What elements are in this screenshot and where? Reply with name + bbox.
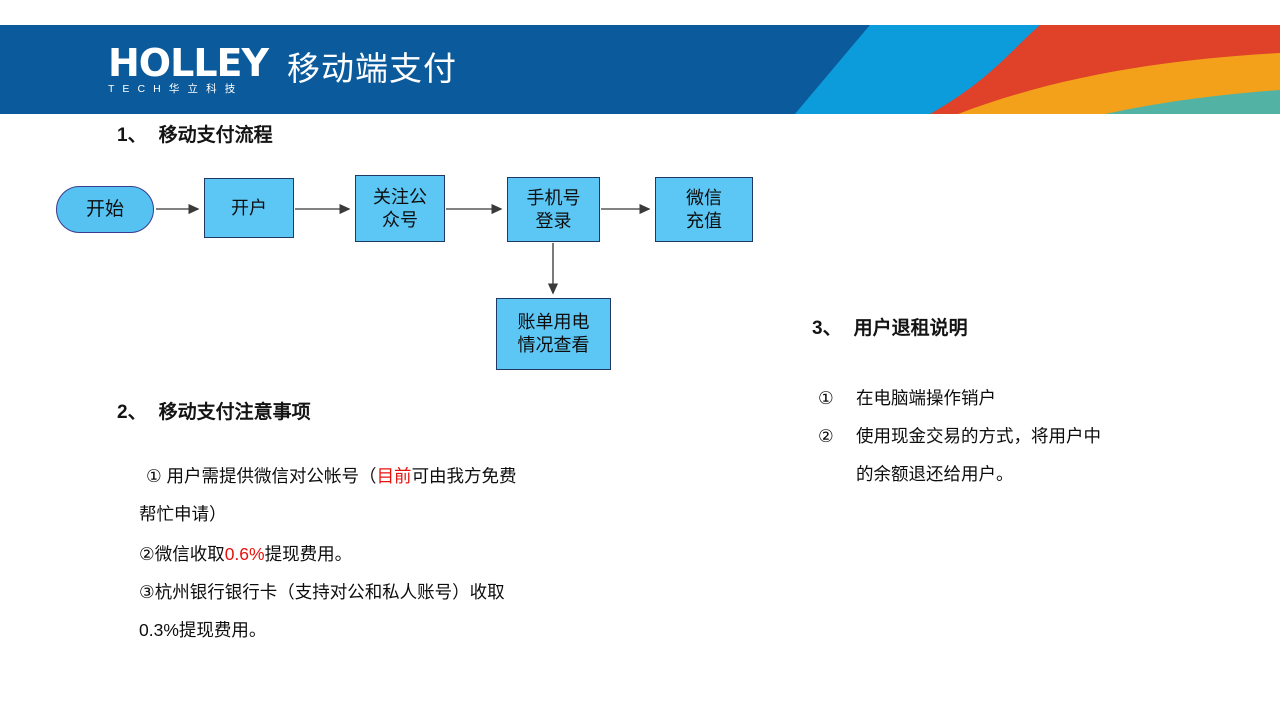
flow-node-bill-line1: 账单用电 — [518, 311, 590, 334]
flow-node-gzh-line1: 关注公 — [373, 186, 427, 209]
payment-note-1-post: 可由我方免费 — [412, 466, 517, 486]
section-2-number: 2、 — [117, 402, 147, 423]
slide-title: 移动端支付 — [287, 48, 457, 90]
refund-item-2-text: 使用现金交易的方式，将用户中 — [856, 426, 1101, 446]
payment-note-1-highlight: 目前 — [377, 466, 412, 486]
payment-note-3-line-1: ③杭州银行银行卡（支持对公和私人账号）收取 — [139, 580, 505, 605]
flow-node-recharge-line2: 充值 — [686, 210, 722, 233]
section-3-number: 3、 — [812, 318, 842, 339]
flow-node-gzh-line2: 众号 — [373, 209, 427, 232]
flow-node-follow-account[interactable]: 关注公 众号 — [355, 175, 445, 242]
slide-canvas: HOLLEY T E C H 华 立 科 技 移动端支付 1、移动支付流程 开始… — [0, 0, 1280, 720]
refund-item-2-marker: ② — [818, 424, 856, 449]
flow-node-bill-usage[interactable]: 账单用电 情况查看 — [496, 298, 611, 370]
section-1-title: 移动支付流程 — [159, 125, 273, 146]
flow-node-login-line2: 登录 — [527, 210, 581, 233]
section-1-number: 1、 — [117, 125, 147, 146]
flow-node-wechat-recharge[interactable]: 微信 充值 — [655, 177, 753, 242]
flow-node-start[interactable]: 开始 — [56, 186, 154, 233]
payment-note-1-pre: ① 用户需提供微信对公帐号（ — [146, 466, 377, 486]
refund-item-2: ②使用现金交易的方式，将用户中 — [818, 424, 1101, 449]
payment-note-2: ②微信收取0.6%提现费用。 — [139, 542, 352, 567]
flow-node-login-line1: 手机号 — [527, 187, 581, 210]
payment-note-3-line-2: 0.3%提现费用。 — [139, 618, 266, 643]
section-2-title: 移动支付注意事项 — [159, 402, 311, 423]
section-heading-2: 2、移动支付注意事项 — [117, 401, 311, 425]
section-heading-1: 1、移动支付流程 — [117, 124, 273, 148]
refund-item-1-text: 在电脑端操作销户 — [856, 388, 996, 408]
refund-item-2-continuation: 的余额退还给用户。 — [856, 462, 1014, 487]
payment-note-2-pre: ②微信收取 — [139, 544, 225, 564]
flow-node-phone-login[interactable]: 手机号 登录 — [507, 177, 600, 242]
flow-node-bill-line2: 情况查看 — [518, 334, 590, 357]
payment-note-2-post: 提现费用。 — [265, 544, 353, 564]
flow-node-kaihu-label: 开户 — [231, 197, 267, 220]
refund-item-1: ①在电脑端操作销户 — [818, 386, 996, 411]
payment-note-2-rate: 0.6% — [225, 544, 265, 564]
company-logo: HOLLEY T E C H 华 立 科 技 — [108, 44, 273, 96]
section-3-title: 用户退租说明 — [854, 318, 968, 339]
refund-item-1-marker: ① — [818, 386, 856, 411]
logo-wordmark: HOLLEY — [108, 44, 273, 82]
flow-node-kaihu[interactable]: 开户 — [204, 178, 294, 238]
section-heading-3: 3、用户退租说明 — [812, 317, 968, 341]
flow-node-start-label: 开始 — [86, 198, 124, 221]
flow-node-recharge-line1: 微信 — [686, 187, 722, 210]
payment-note-1-line-2: 帮忙申请） — [139, 502, 227, 527]
payment-note-1-line-1: ① 用户需提供微信对公帐号（目前可由我方免费 — [146, 464, 517, 489]
